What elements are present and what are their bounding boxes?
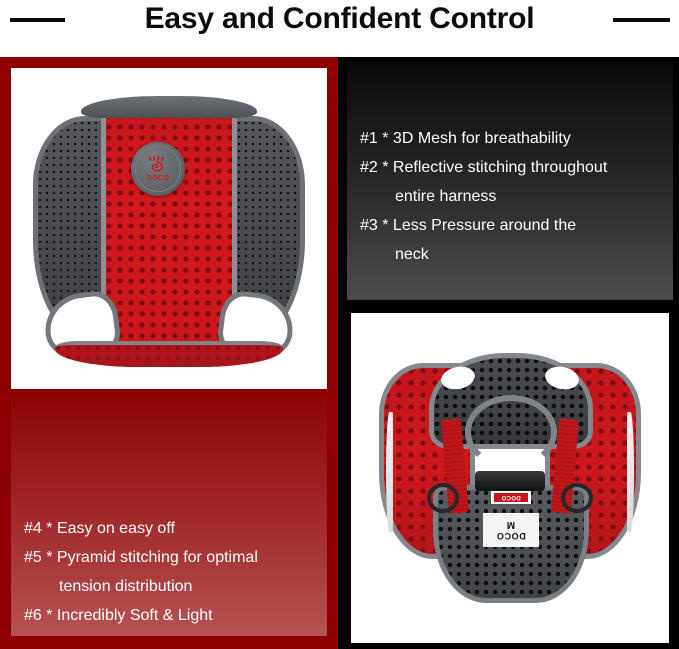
brand-logo-badge: DOCO [131, 142, 185, 196]
title-rule-right-icon [613, 18, 670, 22]
feature-label: #1 * [360, 130, 388, 147]
image-collage: DOCO #4 * Easy on easy off #5 * Pyramid … [0, 57, 679, 649]
dark-feature-panel: #1 * 3D Mesh for breathability #2 * Refl… [347, 62, 673, 300]
left-column-red-block: DOCO #4 * Easy on easy off #5 * Pyramid … [0, 57, 338, 649]
feature-item: #4 * Easy on easy off [24, 514, 258, 543]
feature-text-continuation: tension distribution [59, 578, 192, 595]
harness-handle-loop [465, 395, 557, 469]
harness-neck-strap [81, 96, 257, 118]
feature-text-continuation: neck [395, 246, 429, 263]
feature-list-red: #4 * Easy on easy off #5 * Pyramid stitc… [24, 514, 258, 630]
feature-item: #6 * Incredibly Soft & Light [24, 601, 258, 630]
feature-list-dark: #1 * 3D Mesh for breathability #2 * Refl… [360, 124, 607, 269]
reflective-stripe-right [627, 412, 634, 532]
harness-chest-panel [101, 102, 237, 357]
product-photo-back-frame: DOCO M DOCO [351, 313, 669, 643]
feature-item-continuation: entire harness [360, 182, 607, 211]
feature-item: #1 * 3D Mesh for breathability [360, 124, 607, 153]
product-photo-front-frame: DOCO [11, 68, 327, 389]
harness-belly-strap [55, 341, 283, 367]
size-tag: M DOCO [483, 513, 539, 547]
feature-text: 3D Mesh for breathability [393, 130, 571, 147]
feature-item: #2 * Reflective stitching throughout [360, 153, 607, 182]
leash-d-ring-right [561, 483, 593, 513]
leash-d-ring-left [427, 483, 459, 513]
feature-text: Pyramid stitching for optimal [57, 549, 258, 566]
brand-logo-badge-ring: DOCO [135, 146, 181, 192]
feature-item: #3 * Less Pressure around the [360, 211, 607, 240]
page-title: Easy and Confident Control [0, 0, 679, 38]
feature-label: #4 * [24, 520, 52, 537]
harness-front-view: DOCO [33, 90, 305, 367]
feature-label: #3 * [360, 217, 388, 234]
feature-label: #6 * [24, 607, 52, 624]
feature-item-continuation: tension distribution [24, 572, 258, 601]
reflective-stripe-left [386, 412, 393, 532]
paw-print-icon [145, 156, 171, 174]
buckle-brand-label-text: DOCO [494, 493, 528, 502]
harness-buckle [475, 471, 545, 491]
feature-text: Reflective stitching throughout [393, 159, 607, 176]
brand-logo-wordmark: DOCO [147, 175, 170, 183]
feature-text: Incredibly Soft & Light [57, 607, 213, 624]
red-feature-panel: #4 * Easy on easy off #5 * Pyramid stitc… [11, 396, 327, 636]
size-tag-size-text: M [507, 519, 515, 530]
feature-text-continuation: entire harness [395, 188, 496, 205]
size-tag-brand-text: DOCO [496, 531, 525, 541]
feature-item: #5 * Pyramid stitching for optimal [24, 543, 258, 572]
feature-text: Easy on easy off [57, 520, 175, 537]
feature-text: Less Pressure around the [393, 217, 576, 234]
feature-label: #2 * [360, 159, 388, 176]
feature-label: #5 * [24, 549, 52, 566]
infographic-page: Easy and Confident Control [0, 0, 679, 649]
feature-item-continuation: neck [360, 240, 607, 269]
harness-back-view: DOCO M DOCO [379, 353, 641, 603]
page-header: Easy and Confident Control [0, 0, 679, 46]
buckle-brand-label: DOCO [491, 491, 531, 504]
